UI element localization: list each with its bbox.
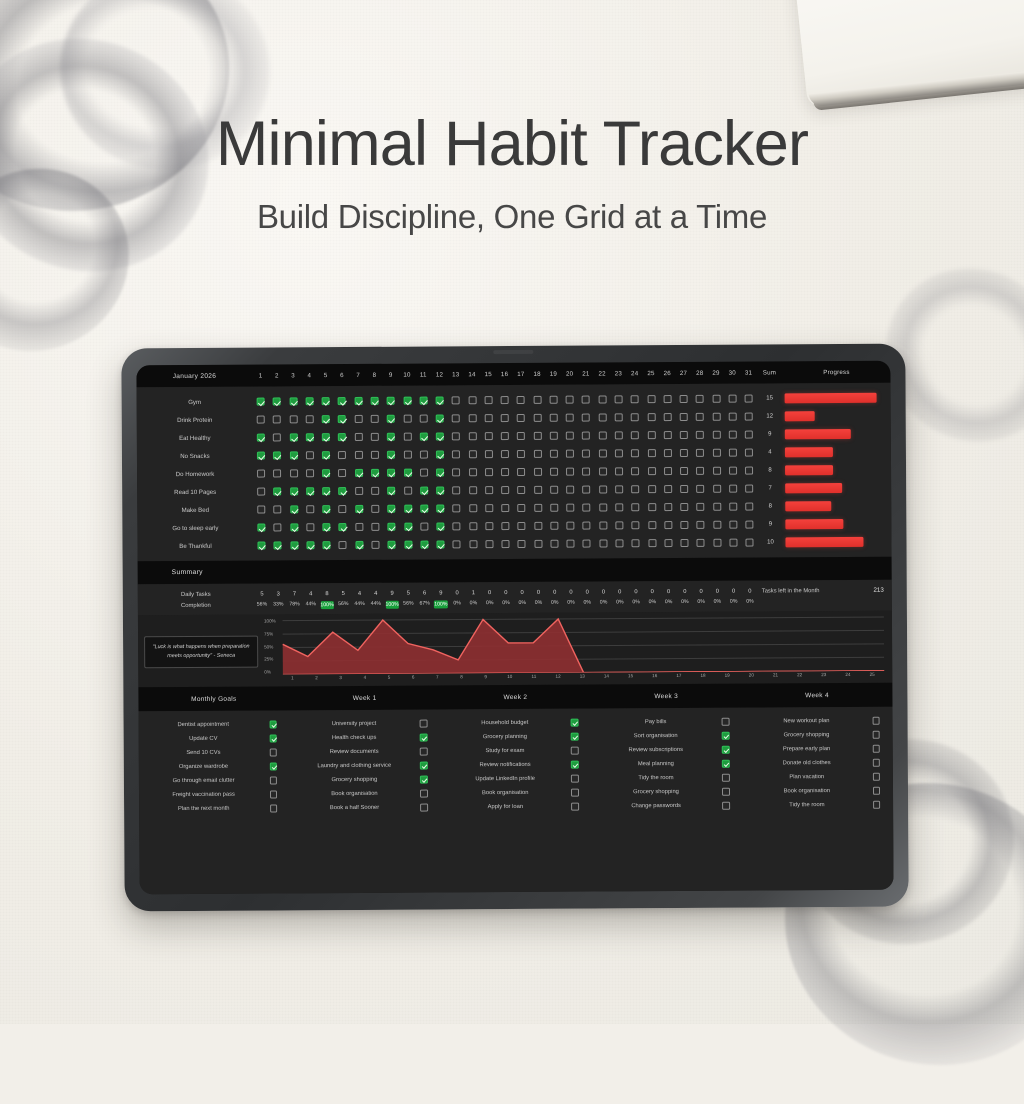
habit-checkbox[interactable]: [257, 488, 265, 496]
habit-checkbox[interactable]: [567, 522, 575, 530]
habit-checkbox[interactable]: [631, 467, 639, 475]
goal-checkbox[interactable]: [420, 762, 428, 770]
habit-checkbox[interactable]: [403, 451, 411, 459]
habit-checkbox[interactable]: [338, 397, 346, 405]
habit-checkbox[interactable]: [339, 487, 347, 495]
habit-checkbox[interactable]: [371, 487, 379, 495]
habit-checkbox[interactable]: [306, 505, 314, 513]
habit-checkbox[interactable]: [664, 467, 672, 475]
habit-checkbox[interactable]: [306, 523, 314, 531]
habit-checkbox[interactable]: [420, 523, 428, 531]
habit-checkbox[interactable]: [518, 486, 526, 494]
goal-checkbox[interactable]: [722, 788, 730, 796]
habit-checkbox[interactable]: [517, 432, 525, 440]
goal-checkbox[interactable]: [420, 790, 428, 798]
goal-checkbox[interactable]: [421, 804, 429, 812]
habit-checkbox[interactable]: [274, 541, 282, 549]
habit-checkbox[interactable]: [452, 432, 460, 440]
habit-checkbox[interactable]: [387, 397, 395, 405]
habit-checkbox[interactable]: [387, 415, 395, 423]
habit-checkbox[interactable]: [680, 521, 688, 529]
habit-checkbox[interactable]: [598, 395, 606, 403]
habit-checkbox[interactable]: [631, 485, 639, 493]
goal-checkbox[interactable]: [873, 787, 881, 795]
habit-checkbox[interactable]: [469, 486, 477, 494]
habit-checkbox[interactable]: [713, 539, 721, 547]
habit-checkbox[interactable]: [501, 450, 509, 458]
habit-checkbox[interactable]: [306, 397, 314, 405]
habit-checkbox[interactable]: [469, 504, 477, 512]
habit-checkbox[interactable]: [436, 504, 444, 512]
habit-checkbox[interactable]: [468, 396, 476, 404]
habit-checkbox[interactable]: [501, 522, 509, 530]
habit-checkbox[interactable]: [729, 449, 737, 457]
habit-checkbox[interactable]: [663, 413, 671, 421]
habit-checkbox[interactable]: [355, 487, 363, 495]
habit-checkbox[interactable]: [419, 397, 427, 405]
habit-checkbox[interactable]: [338, 433, 346, 441]
habit-checkbox[interactable]: [517, 468, 525, 476]
habit-checkbox[interactable]: [647, 449, 655, 457]
habit-checkbox[interactable]: [728, 395, 736, 403]
goal-checkbox[interactable]: [571, 761, 579, 769]
habit-checkbox[interactable]: [322, 433, 330, 441]
goal-checkbox[interactable]: [722, 732, 730, 740]
habit-checkbox[interactable]: [501, 468, 509, 476]
habit-checkbox[interactable]: [680, 395, 688, 403]
habit-checkbox[interactable]: [404, 469, 412, 477]
goal-checkbox[interactable]: [873, 759, 881, 767]
habit-checkbox[interactable]: [322, 397, 330, 405]
habit-checkbox[interactable]: [420, 541, 428, 549]
goal-checkbox[interactable]: [571, 719, 579, 727]
habit-checkbox[interactable]: [712, 431, 720, 439]
habit-checkbox[interactable]: [436, 432, 444, 440]
goal-checkbox[interactable]: [722, 760, 730, 768]
habit-checkbox[interactable]: [306, 487, 314, 495]
habit-checkbox[interactable]: [273, 451, 281, 459]
habit-checkbox[interactable]: [696, 413, 704, 421]
habit-checkbox[interactable]: [729, 413, 737, 421]
habit-checkbox[interactable]: [696, 485, 704, 493]
habit-checkbox[interactable]: [323, 541, 331, 549]
habit-checkbox[interactable]: [355, 523, 363, 531]
habit-checkbox[interactable]: [322, 487, 330, 495]
goal-checkbox[interactable]: [420, 776, 428, 784]
habit-checkbox[interactable]: [615, 395, 623, 403]
habit-checkbox[interactable]: [583, 504, 591, 512]
goal-checkbox[interactable]: [722, 802, 730, 810]
goal-checkbox[interactable]: [571, 789, 579, 797]
goal-checkbox[interactable]: [420, 748, 428, 756]
habit-checkbox[interactable]: [452, 450, 460, 458]
habit-checkbox[interactable]: [436, 414, 444, 422]
habit-checkbox[interactable]: [371, 469, 379, 477]
goal-checkbox[interactable]: [872, 731, 880, 739]
habit-checkbox[interactable]: [485, 504, 493, 512]
habit-checkbox[interactable]: [615, 413, 623, 421]
habit-checkbox[interactable]: [583, 540, 591, 548]
habit-checkbox[interactable]: [599, 467, 607, 475]
goal-checkbox[interactable]: [873, 745, 881, 753]
habit-checkbox[interactable]: [615, 485, 623, 493]
habit-checkbox[interactable]: [257, 416, 265, 424]
habit-checkbox[interactable]: [582, 414, 590, 422]
habit-checkbox[interactable]: [582, 450, 590, 458]
habit-checkbox[interactable]: [713, 521, 721, 529]
habit-checkbox[interactable]: [583, 522, 591, 530]
habit-checkbox[interactable]: [468, 414, 476, 422]
habit-checkbox[interactable]: [484, 396, 492, 404]
habit-checkbox[interactable]: [680, 431, 688, 439]
habit-checkbox[interactable]: [452, 486, 460, 494]
habit-checkbox[interactable]: [729, 521, 737, 529]
habit-checkbox[interactable]: [403, 415, 411, 423]
habit-checkbox[interactable]: [680, 449, 688, 457]
habit-checkbox[interactable]: [615, 539, 623, 547]
habit-checkbox[interactable]: [729, 539, 737, 547]
habit-checkbox[interactable]: [485, 450, 493, 458]
habit-checkbox[interactable]: [387, 505, 395, 513]
habit-checkbox[interactable]: [322, 469, 330, 477]
habit-checkbox[interactable]: [534, 468, 542, 476]
habit-checkbox[interactable]: [354, 415, 362, 423]
habit-checkbox[interactable]: [436, 468, 444, 476]
habit-checkbox[interactable]: [289, 397, 297, 405]
habit-checkbox[interactable]: [501, 504, 509, 512]
habit-checkbox[interactable]: [517, 396, 525, 404]
habit-checkbox[interactable]: [338, 451, 346, 459]
habit-checkbox[interactable]: [648, 467, 656, 475]
habit-checkbox[interactable]: [371, 397, 379, 405]
habit-checkbox[interactable]: [517, 414, 525, 422]
habit-checkbox[interactable]: [404, 505, 412, 513]
habit-checkbox[interactable]: [566, 396, 574, 404]
habit-checkbox[interactable]: [745, 485, 753, 493]
goal-checkbox[interactable]: [873, 773, 881, 781]
habit-checkbox[interactable]: [631, 503, 639, 511]
habit-checkbox[interactable]: [680, 485, 688, 493]
habit-checkbox[interactable]: [403, 397, 411, 405]
habit-checkbox[interactable]: [501, 486, 509, 494]
habit-checkbox[interactable]: [273, 397, 281, 405]
habit-checkbox[interactable]: [322, 505, 330, 513]
habit-checkbox[interactable]: [257, 470, 265, 478]
habit-checkbox[interactable]: [713, 503, 721, 511]
habit-checkbox[interactable]: [257, 398, 265, 406]
habit-checkbox[interactable]: [453, 540, 461, 548]
habit-checkbox[interactable]: [745, 431, 753, 439]
habit-checkbox[interactable]: [713, 467, 721, 475]
habit-checkbox[interactable]: [664, 539, 672, 547]
goal-checkbox[interactable]: [269, 763, 277, 771]
habit-checkbox[interactable]: [273, 469, 281, 477]
habit-checkbox[interactable]: [371, 541, 379, 549]
habit-checkbox[interactable]: [534, 486, 542, 494]
habit-checkbox[interactable]: [468, 432, 476, 440]
habit-checkbox[interactable]: [712, 413, 720, 421]
habit-checkbox[interactable]: [420, 487, 428, 495]
habit-checkbox[interactable]: [485, 432, 493, 440]
habit-checkbox[interactable]: [453, 522, 461, 530]
habit-checkbox[interactable]: [664, 485, 672, 493]
habit-checkbox[interactable]: [403, 433, 411, 441]
habit-checkbox[interactable]: [387, 451, 395, 459]
habit-checkbox[interactable]: [534, 450, 542, 458]
habit-checkbox[interactable]: [533, 414, 541, 422]
habit-checkbox[interactable]: [712, 449, 720, 457]
habit-checkbox[interactable]: [729, 485, 737, 493]
habit-checkbox[interactable]: [518, 504, 526, 512]
habit-checkbox[interactable]: [566, 468, 574, 476]
goal-checkbox[interactable]: [873, 801, 881, 809]
habit-checkbox[interactable]: [338, 415, 346, 423]
habit-checkbox[interactable]: [387, 487, 395, 495]
habit-checkbox[interactable]: [534, 504, 542, 512]
habit-checkbox[interactable]: [257, 452, 265, 460]
habit-checkbox[interactable]: [550, 414, 558, 422]
habit-checkbox[interactable]: [582, 468, 590, 476]
habit-checkbox[interactable]: [566, 450, 574, 458]
habit-checkbox[interactable]: [420, 433, 428, 441]
habit-checkbox[interactable]: [648, 485, 656, 493]
habit-checkbox[interactable]: [534, 540, 542, 548]
habit-checkbox[interactable]: [452, 414, 460, 422]
habit-checkbox[interactable]: [582, 396, 590, 404]
habit-checkbox[interactable]: [566, 432, 574, 440]
habit-checkbox[interactable]: [339, 505, 347, 513]
goal-checkbox[interactable]: [270, 777, 278, 785]
habit-checkbox[interactable]: [696, 467, 704, 475]
habit-checkbox[interactable]: [632, 521, 640, 529]
habit-checkbox[interactable]: [387, 433, 395, 441]
habit-checkbox[interactable]: [533, 432, 541, 440]
habit-checkbox[interactable]: [273, 415, 281, 423]
goal-checkbox[interactable]: [722, 746, 730, 754]
habit-checkbox[interactable]: [290, 505, 298, 513]
habit-checkbox[interactable]: [387, 469, 395, 477]
goal-checkbox[interactable]: [269, 749, 277, 757]
habit-checkbox[interactable]: [436, 486, 444, 494]
habit-checkbox[interactable]: [257, 434, 265, 442]
habit-checkbox[interactable]: [680, 539, 688, 547]
habit-checkbox[interactable]: [452, 396, 460, 404]
goal-checkbox[interactable]: [269, 735, 277, 743]
habit-checkbox[interactable]: [339, 523, 347, 531]
habit-checkbox[interactable]: [664, 449, 672, 457]
habit-checkbox[interactable]: [485, 486, 493, 494]
habit-checkbox[interactable]: [339, 541, 347, 549]
habit-checkbox[interactable]: [501, 414, 509, 422]
habit-checkbox[interactable]: [322, 451, 330, 459]
goal-checkbox[interactable]: [872, 717, 880, 725]
habit-checkbox[interactable]: [598, 413, 606, 421]
habit-checkbox[interactable]: [501, 432, 509, 440]
habit-checkbox[interactable]: [550, 504, 558, 512]
habit-checkbox[interactable]: [273, 433, 281, 441]
habit-checkbox[interactable]: [274, 487, 282, 495]
habit-checkbox[interactable]: [648, 503, 656, 511]
habit-checkbox[interactable]: [290, 523, 298, 531]
habit-checkbox[interactable]: [615, 467, 623, 475]
habit-checkbox[interactable]: [745, 395, 753, 403]
habit-checkbox[interactable]: [371, 523, 379, 531]
habit-checkbox[interactable]: [355, 433, 363, 441]
habit-checkbox[interactable]: [290, 541, 298, 549]
habit-checkbox[interactable]: [746, 539, 754, 547]
goal-checkbox[interactable]: [722, 718, 730, 726]
habit-checkbox[interactable]: [404, 523, 412, 531]
habit-checkbox[interactable]: [404, 487, 412, 495]
habit-checkbox[interactable]: [290, 451, 298, 459]
habit-checkbox[interactable]: [469, 540, 477, 548]
habit-checkbox[interactable]: [729, 503, 737, 511]
habit-checkbox[interactable]: [274, 505, 282, 513]
habit-checkbox[interactable]: [648, 539, 656, 547]
habit-checkbox[interactable]: [567, 540, 575, 548]
habit-checkbox[interactable]: [631, 431, 639, 439]
habit-checkbox[interactable]: [436, 396, 444, 404]
habit-checkbox[interactable]: [680, 503, 688, 511]
habit-checkbox[interactable]: [485, 468, 493, 476]
habit-checkbox[interactable]: [615, 503, 623, 511]
habit-checkbox[interactable]: [354, 397, 362, 405]
habit-checkbox[interactable]: [599, 539, 607, 547]
habit-checkbox[interactable]: [550, 468, 558, 476]
goal-checkbox[interactable]: [269, 721, 277, 729]
habit-checkbox[interactable]: [550, 432, 558, 440]
habit-checkbox[interactable]: [549, 396, 557, 404]
habit-checkbox[interactable]: [599, 431, 607, 439]
habit-checkbox[interactable]: [615, 449, 623, 457]
habit-checkbox[interactable]: [518, 540, 526, 548]
habit-checkbox[interactable]: [371, 505, 379, 513]
habit-checkbox[interactable]: [355, 469, 363, 477]
goal-checkbox[interactable]: [722, 774, 730, 782]
habit-checkbox[interactable]: [745, 503, 753, 511]
goal-checkbox[interactable]: [571, 747, 579, 755]
habit-checkbox[interactable]: [485, 414, 493, 422]
habit-checkbox[interactable]: [566, 504, 574, 512]
habit-checkbox[interactable]: [306, 451, 314, 459]
habit-checkbox[interactable]: [257, 506, 265, 514]
habit-checkbox[interactable]: [436, 450, 444, 458]
habit-checkbox[interactable]: [501, 396, 509, 404]
habit-checkbox[interactable]: [306, 415, 314, 423]
habit-checkbox[interactable]: [485, 522, 493, 530]
goal-checkbox[interactable]: [420, 720, 428, 728]
habit-checkbox[interactable]: [745, 449, 753, 457]
habit-checkbox[interactable]: [257, 524, 265, 532]
habit-checkbox[interactable]: [550, 522, 558, 530]
habit-checkbox[interactable]: [485, 540, 493, 548]
goal-checkbox[interactable]: [571, 775, 579, 783]
habit-checkbox[interactable]: [355, 451, 363, 459]
habit-checkbox[interactable]: [420, 505, 428, 513]
habit-checkbox[interactable]: [338, 469, 346, 477]
habit-checkbox[interactable]: [696, 395, 704, 403]
goal-checkbox[interactable]: [270, 805, 278, 813]
habit-checkbox[interactable]: [729, 467, 737, 475]
habit-checkbox[interactable]: [289, 415, 297, 423]
habit-checkbox[interactable]: [664, 503, 672, 511]
habit-checkbox[interactable]: [582, 432, 590, 440]
habit-checkbox[interactable]: [697, 521, 705, 529]
habit-checkbox[interactable]: [680, 413, 688, 421]
habit-checkbox[interactable]: [371, 415, 379, 423]
habit-checkbox[interactable]: [696, 431, 704, 439]
habit-checkbox[interactable]: [745, 467, 753, 475]
habit-checkbox[interactable]: [566, 486, 574, 494]
habit-checkbox[interactable]: [631, 395, 639, 403]
habit-checkbox[interactable]: [696, 449, 704, 457]
habit-checkbox[interactable]: [322, 415, 330, 423]
habit-checkbox[interactable]: [290, 487, 298, 495]
habit-checkbox[interactable]: [469, 468, 477, 476]
habit-checkbox[interactable]: [729, 431, 737, 439]
habit-checkbox[interactable]: [664, 521, 672, 529]
habit-checkbox[interactable]: [697, 539, 705, 547]
habit-checkbox[interactable]: [371, 433, 379, 441]
habit-checkbox[interactable]: [518, 522, 526, 530]
habit-checkbox[interactable]: [306, 433, 314, 441]
goal-checkbox[interactable]: [571, 803, 579, 811]
habit-checkbox[interactable]: [274, 523, 282, 531]
habit-checkbox[interactable]: [453, 504, 461, 512]
habit-checkbox[interactable]: [469, 522, 477, 530]
habit-checkbox[interactable]: [371, 451, 379, 459]
habit-checkbox[interactable]: [388, 523, 396, 531]
habit-checkbox[interactable]: [599, 503, 607, 511]
habit-checkbox[interactable]: [534, 522, 542, 530]
habit-checkbox[interactable]: [647, 395, 655, 403]
habit-checkbox[interactable]: [306, 469, 314, 477]
habit-checkbox[interactable]: [420, 451, 428, 459]
habit-checkbox[interactable]: [550, 486, 558, 494]
habit-checkbox[interactable]: [745, 521, 753, 529]
habit-checkbox[interactable]: [437, 540, 445, 548]
goal-checkbox[interactable]: [270, 791, 278, 799]
habit-checkbox[interactable]: [599, 521, 607, 529]
habit-checkbox[interactable]: [436, 522, 444, 530]
habit-checkbox[interactable]: [697, 503, 705, 511]
habit-checkbox[interactable]: [306, 541, 314, 549]
habit-checkbox[interactable]: [664, 431, 672, 439]
habit-checkbox[interactable]: [631, 449, 639, 457]
habit-checkbox[interactable]: [419, 415, 427, 423]
habit-checkbox[interactable]: [647, 413, 655, 421]
habit-checkbox[interactable]: [566, 414, 574, 422]
habit-checkbox[interactable]: [663, 395, 671, 403]
habit-checkbox[interactable]: [502, 540, 510, 548]
habit-checkbox[interactable]: [468, 450, 476, 458]
habit-checkbox[interactable]: [615, 521, 623, 529]
habit-checkbox[interactable]: [599, 485, 607, 493]
habit-checkbox[interactable]: [680, 467, 688, 475]
habit-checkbox[interactable]: [355, 541, 363, 549]
habit-checkbox[interactable]: [517, 450, 525, 458]
habit-checkbox[interactable]: [289, 433, 297, 441]
habit-checkbox[interactable]: [323, 523, 331, 531]
habit-checkbox[interactable]: [290, 469, 298, 477]
goal-checkbox[interactable]: [571, 733, 579, 741]
habit-checkbox[interactable]: [388, 541, 396, 549]
habit-checkbox[interactable]: [712, 395, 720, 403]
habit-checkbox[interactable]: [615, 431, 623, 439]
habit-checkbox[interactable]: [452, 468, 460, 476]
goal-checkbox[interactable]: [420, 734, 428, 742]
habit-checkbox[interactable]: [583, 486, 591, 494]
